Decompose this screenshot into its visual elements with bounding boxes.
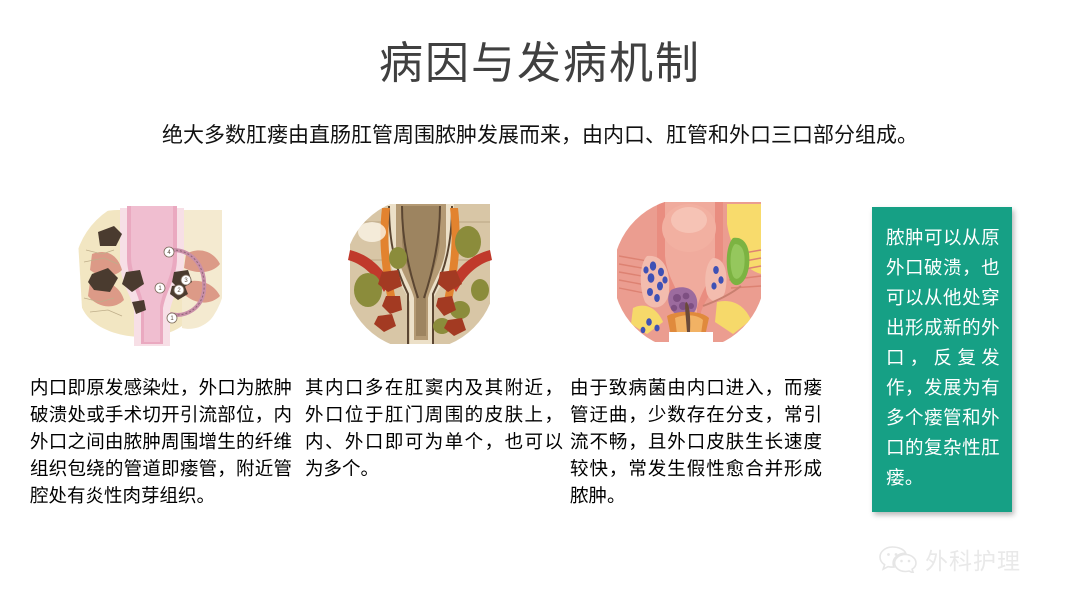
- callout-box: 脓肿可以从原外口破溃，也可以从他处穿出形成新的外口，反复发作，发展为有多个瘘管和…: [872, 207, 1012, 512]
- body-text-column-1: 内口即原发感染灶，外口为脓肿破溃处或手术切开引流部位，内外口之间由脓肿周围增生的…: [30, 374, 292, 509]
- figure-anorectal-illustration-1: 4 3 2 1 1: [74, 198, 226, 350]
- page-title: 病因与发病机制: [0, 36, 1080, 92]
- watermark: 外科护理: [878, 543, 1021, 578]
- watermark-label: 外科护理: [925, 547, 1021, 575]
- anorectal-fistula-illustration-1: 4 3 2 1 1: [74, 198, 226, 350]
- anorectal-fistula-illustration-2: [344, 198, 496, 350]
- body-text-column-3: 由于致病菌由内口进入，而瘘管迂曲，少数存在分支，常引流不畅，且外口皮肤生长速度较…: [570, 374, 822, 509]
- anorectal-fistula-illustration-3: [613, 198, 765, 350]
- callout-text: 脓肿可以从原外口破溃，也可以从他处穿出形成新的外口，反复发作，发展为有多个瘘管和…: [886, 223, 1000, 493]
- figure-anorectal-illustration-3: [613, 198, 765, 350]
- page-subtitle: 绝大多数肛瘘由直肠肛管周围脓肿发展而来，由内口、肛管和外口三口部分组成。: [0, 121, 1080, 151]
- body-text-column-2: 其内口多在肛窦内及其附近，外口位于肛门周围的皮肤上，内、外口即可为单个，也可以为…: [305, 374, 563, 482]
- wechat-bubbles-icon: [878, 543, 918, 578]
- figure-anorectal-illustration-2: [344, 198, 496, 350]
